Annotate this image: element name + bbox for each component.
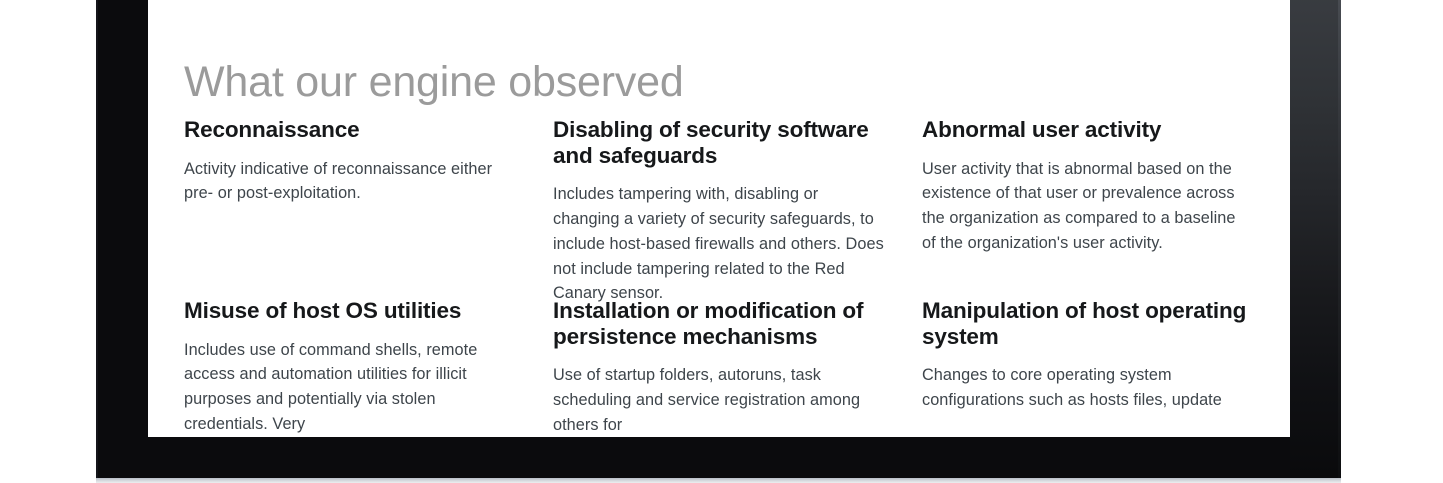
observation-card-reconnaissance: Reconnaissance Activity indicative of re… [184, 117, 519, 298]
observation-card-persistence-mechanisms: Installation or modification of persiste… [553, 298, 888, 437]
observation-cards-grid: Reconnaissance Activity indicative of re… [184, 117, 1284, 437]
card-description: User activity that is abnormal based on … [922, 157, 1252, 256]
device-base-strip [96, 478, 1341, 483]
card-title: Manipulation of host operating system [922, 298, 1252, 349]
observation-card-abnormal-user-activity: Abnormal user activity User activity tha… [922, 117, 1252, 298]
page-root: What our engine observed Reconnaissance … [0, 0, 1443, 483]
bezel-left-edge [96, 0, 98, 478]
page-title: What our engine observed [184, 59, 684, 106]
card-title: Reconnaissance [184, 117, 519, 143]
observation-card-misuse-host-os-utilities: Misuse of host OS utilities Includes use… [184, 298, 519, 437]
observation-card-manipulation-host-os: Manipulation of host operating system Ch… [922, 298, 1252, 437]
card-description: Includes use of command shells, remote a… [184, 338, 519, 437]
card-title: Misuse of host OS utilities [184, 298, 519, 324]
device-screen: What our engine observed Reconnaissance … [148, 0, 1290, 437]
card-title: Disabling of security software and safeg… [553, 117, 888, 168]
bezel-right-edge [1338, 0, 1341, 478]
card-description: Activity indicative of reconnaissance ei… [184, 157, 519, 207]
card-title: Installation or modification of persiste… [553, 298, 888, 349]
card-title: Abnormal user activity [922, 117, 1252, 143]
bezel-right-panel [1290, 0, 1341, 478]
card-description: Use of startup folders, autoruns, task s… [553, 363, 888, 437]
card-description: Changes to core operating system configu… [922, 363, 1252, 413]
observation-card-disabling-security-software: Disabling of security software and safeg… [553, 117, 888, 298]
card-description: Includes tampering with, disabling or ch… [553, 182, 888, 306]
